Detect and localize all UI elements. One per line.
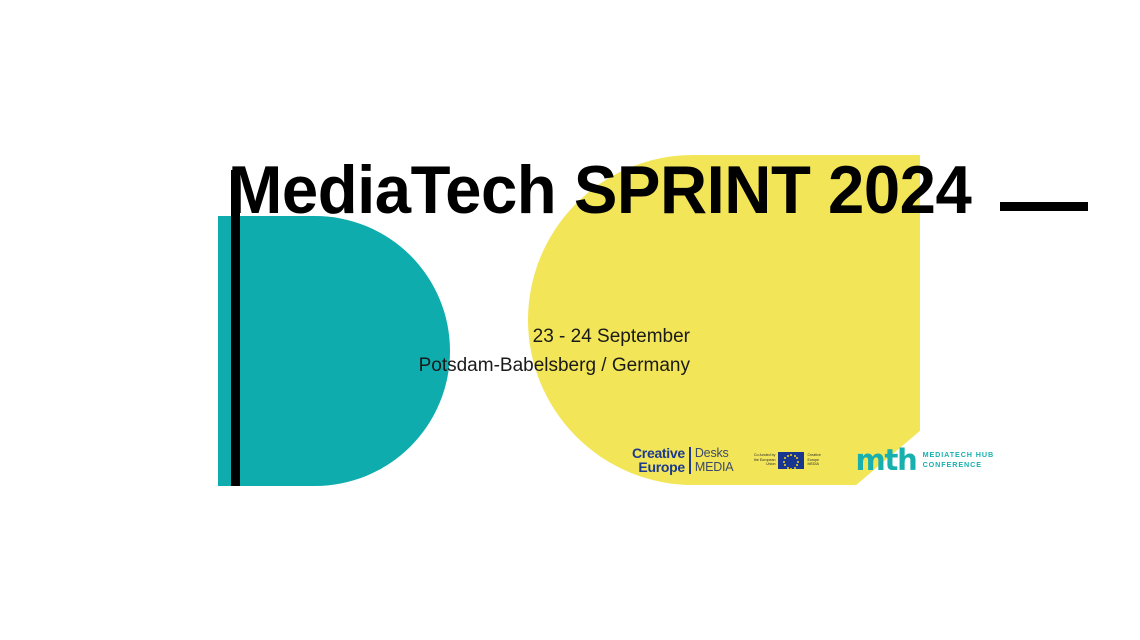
eu-cofunded-text: Co-funded by the European Union [745,453,775,466]
partner-logo-strip: Creative Europe Desks MEDIA Co-funded by… [632,440,994,480]
event-details: 23 - 24 September Potsdam-Babelsberg / G… [330,322,690,381]
page-title: MediaTech SPRINT 2024 [228,158,971,223]
teal-shape-chamfer [372,448,430,488]
eu-cofunded-logo: Co-funded by the European Union Creative [745,452,837,469]
decorative-shapes [0,0,1140,640]
headline-row: MediaTech SPRINT 2024 [228,158,1088,223]
event-date: 23 - 24 September [330,322,690,351]
media-label: MEDIA [695,460,734,474]
creative-europe-divider [689,447,691,474]
mth-subtitle-line-1: MEDIATECH HUB [923,450,994,460]
creative-europe-word-bottom: Europe [638,460,684,474]
eu-creative-europe-text: Creative Europe MEDIA [807,453,837,466]
desks-media-wordmark: Desks MEDIA [695,446,734,474]
creative-europe-word-top: Creative [632,446,685,460]
title-underline-dash [1000,202,1088,211]
poster-canvas: MediaTech SPRINT 2024 23 - 24 September … [0,0,1140,640]
eu-cofunded-line-2: the European Union [745,458,775,467]
desks-label: Desks [695,446,734,460]
mth-subtitle-line-2: CONFERENCE [923,460,994,470]
mth-subtitle: MEDIATECH HUB CONFERENCE [923,450,994,469]
mth-wordmark: mth [855,446,916,475]
creative-europe-logo: Creative Europe Desks MEDIA [632,446,733,475]
event-location: Potsdam-Babelsberg / Germany [330,351,690,380]
eu-flag-icon [778,452,804,469]
eu-right-line-3: MEDIA [807,462,837,466]
mediatech-hub-logo: mth MEDIATECH HUB CONFERENCE [855,446,994,475]
creative-europe-wordmark: Creative Europe [632,446,685,475]
